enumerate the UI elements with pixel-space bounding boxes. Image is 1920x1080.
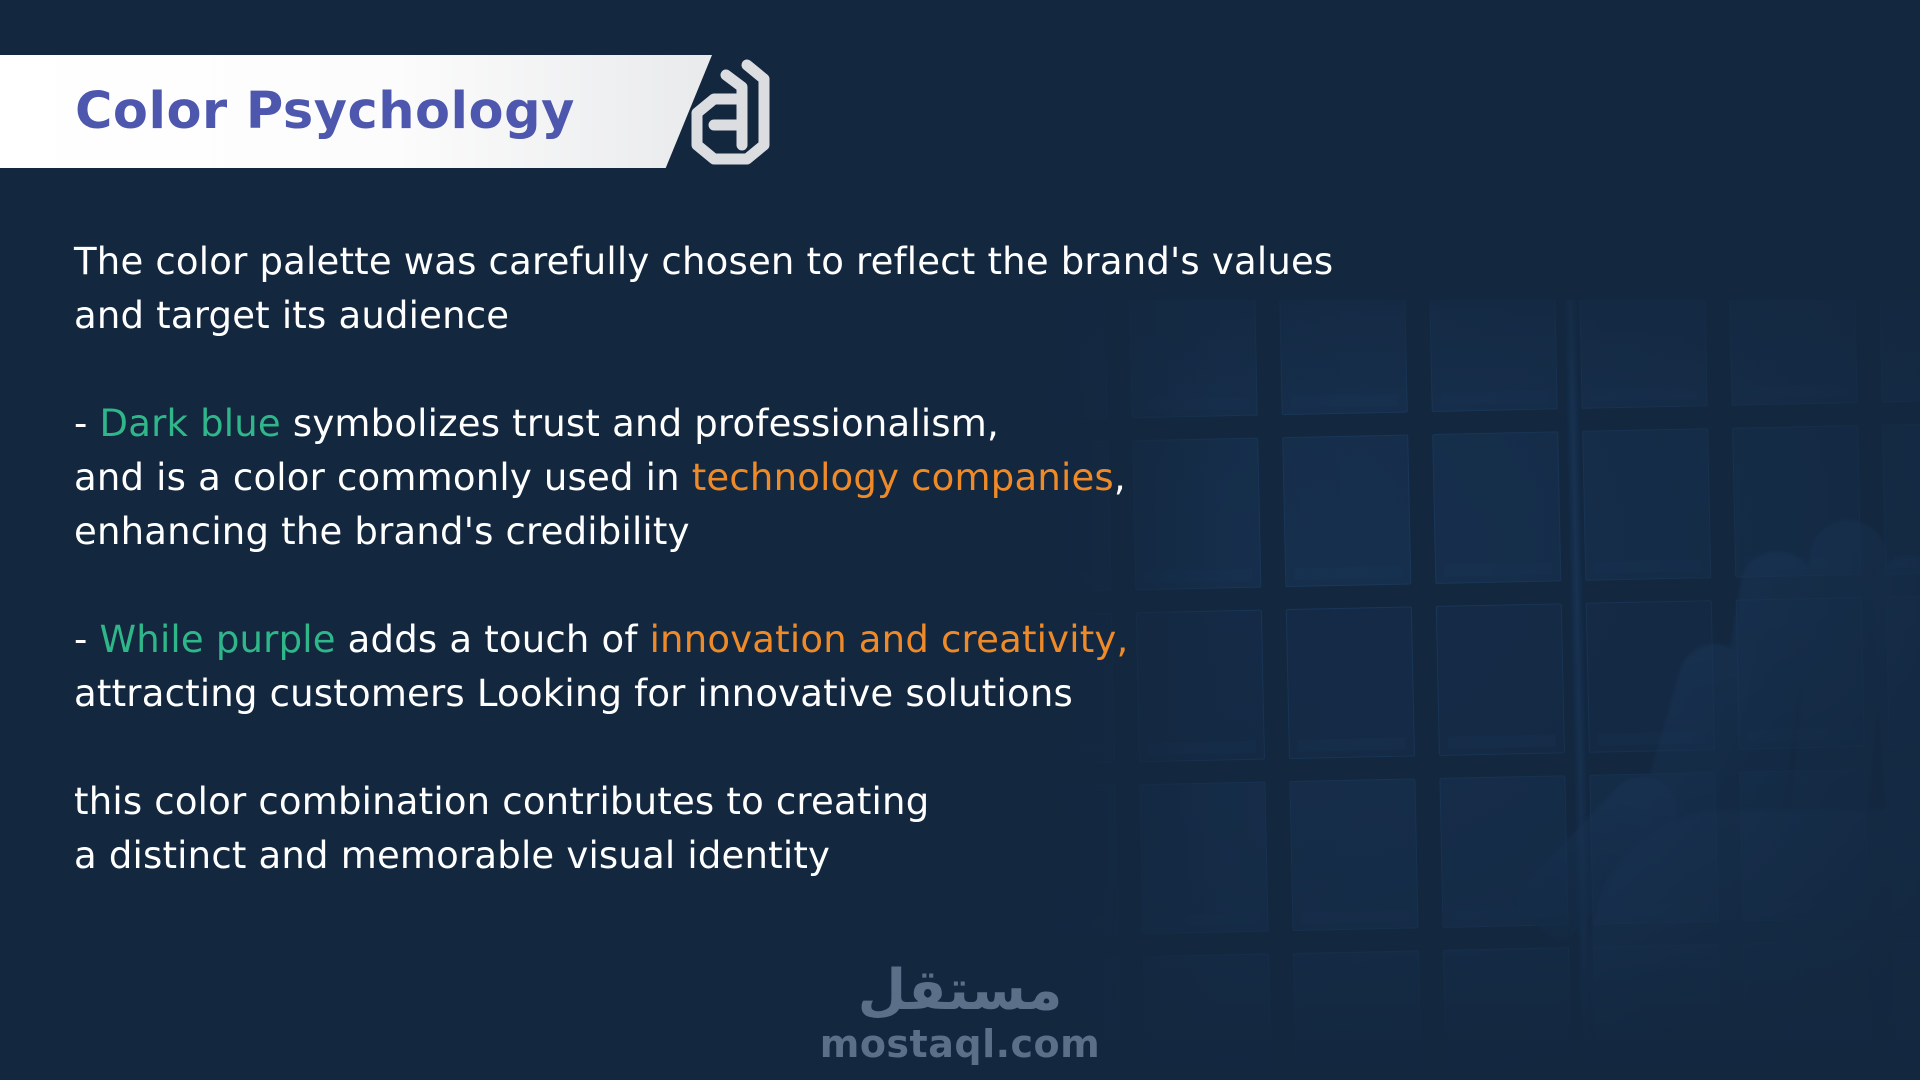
page-title: Color Psychology xyxy=(75,62,575,162)
text-line: - Dark blue symbolizes trust and profess… xyxy=(74,397,1524,451)
highlight-orange: technology companies xyxy=(692,456,1114,499)
highlight-orange: innovation and creativity, xyxy=(650,618,1129,661)
text-line: The color palette was carefully chosen t… xyxy=(74,235,1524,289)
brand-monogram-logo xyxy=(684,53,776,171)
paragraph-dark-blue: - Dark blue symbolizes trust and profess… xyxy=(74,397,1524,559)
color-swatch-card xyxy=(1143,954,1272,1080)
paragraph-purple: - While purple adds a touch of innovatio… xyxy=(74,613,1524,721)
text-line: a distinct and memorable visual identity xyxy=(74,829,1524,883)
color-swatch-card xyxy=(1729,300,1858,406)
text-run: The color palette was carefully chosen t… xyxy=(74,240,1333,283)
text-line: attracting customers Looking for innovat… xyxy=(74,667,1524,721)
text-run: adds a touch of xyxy=(336,618,650,661)
slide-canvas: Color Psychology The color palette was c… xyxy=(0,0,1920,1080)
body-copy: The color palette was carefully chosen t… xyxy=(74,235,1524,883)
color-swatch-card xyxy=(1293,950,1422,1080)
watermark-arabic-text: مستقل xyxy=(820,960,1101,1022)
text-run: , xyxy=(1114,456,1126,499)
text-line: this color combination contributes to cr… xyxy=(74,775,1524,829)
color-swatch-card xyxy=(1579,300,1708,409)
hand-silhouette xyxy=(1470,510,1920,1080)
text-line: and is a color commonly used in technolo… xyxy=(74,451,1524,505)
text-run: a distinct and memorable visual identity xyxy=(74,834,830,877)
text-line: enhancing the brand's credibility xyxy=(74,505,1524,559)
watermark-url-text: mostaql.com xyxy=(820,1022,1101,1066)
text-run: attracting customers Looking for innovat… xyxy=(74,672,1073,715)
text-line: and target its audience xyxy=(74,289,1524,343)
highlight-teal: While purple xyxy=(100,618,336,661)
brand-monogram-icon xyxy=(684,53,776,171)
text-run: and is a color commonly used in xyxy=(74,456,692,499)
mostaql-watermark: مستقل mostaql.com xyxy=(820,960,1101,1066)
paragraph-conclusion: this color combination contributes to cr… xyxy=(74,775,1524,883)
color-swatch-card xyxy=(1878,300,1920,403)
text-line: - While purple adds a touch of innovatio… xyxy=(74,613,1524,667)
text-run: - xyxy=(74,618,100,661)
text-run: symbolizes trust and professionalism, xyxy=(281,402,999,445)
text-run: this color combination contributes to cr… xyxy=(74,780,929,823)
text-run: enhancing the brand's credibility xyxy=(74,510,690,553)
highlight-teal: Dark blue xyxy=(100,402,281,445)
text-run: - xyxy=(74,402,100,445)
text-run: and target its audience xyxy=(74,294,509,337)
paragraph-intro: The color palette was carefully chosen t… xyxy=(74,235,1524,343)
